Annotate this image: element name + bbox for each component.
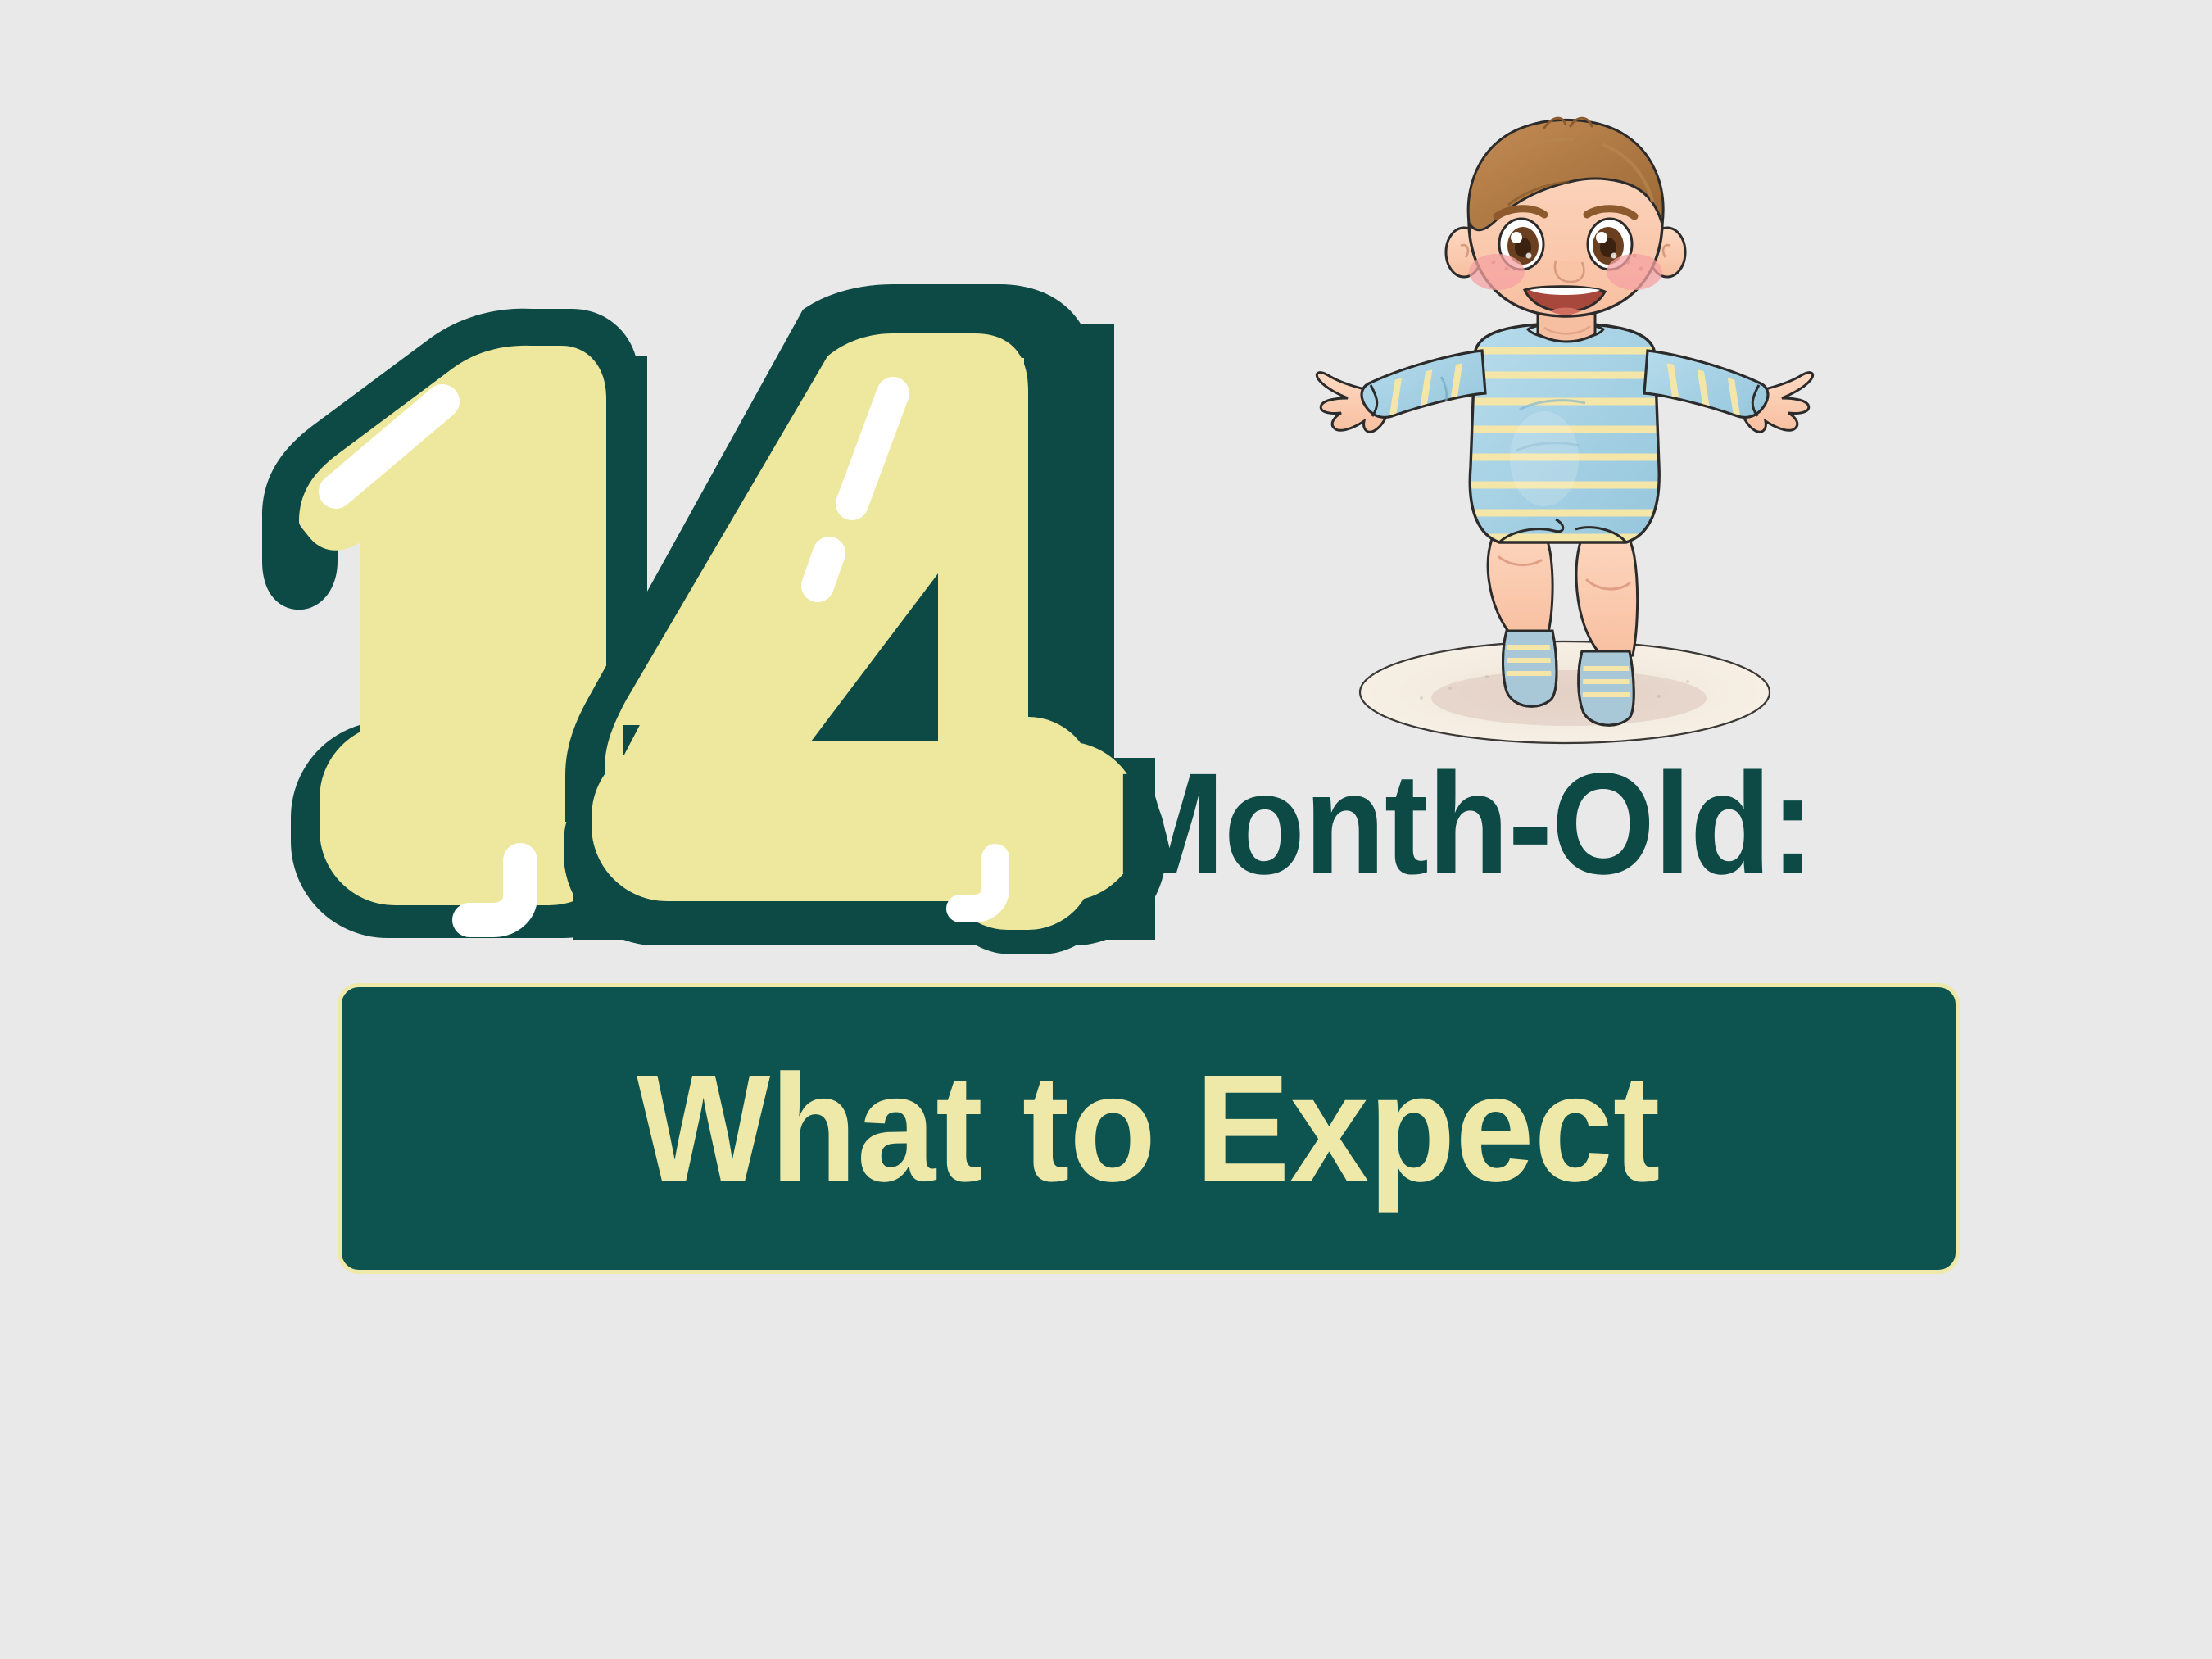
standing-toddler-illustration	[1274, 115, 1856, 778]
age-number-graphic	[238, 233, 1180, 971]
round-rug	[1360, 641, 1770, 743]
title-card-canvas: Month-Old: What to Expect	[0, 0, 2212, 1659]
banner-title: What to Expect	[637, 1053, 1660, 1205]
head	[1446, 118, 1685, 333]
what-to-expect-banner: What to Expect	[338, 983, 1960, 1274]
striped-romper	[1456, 324, 1677, 543]
month-old-label: Month-Old:	[1114, 752, 1814, 896]
